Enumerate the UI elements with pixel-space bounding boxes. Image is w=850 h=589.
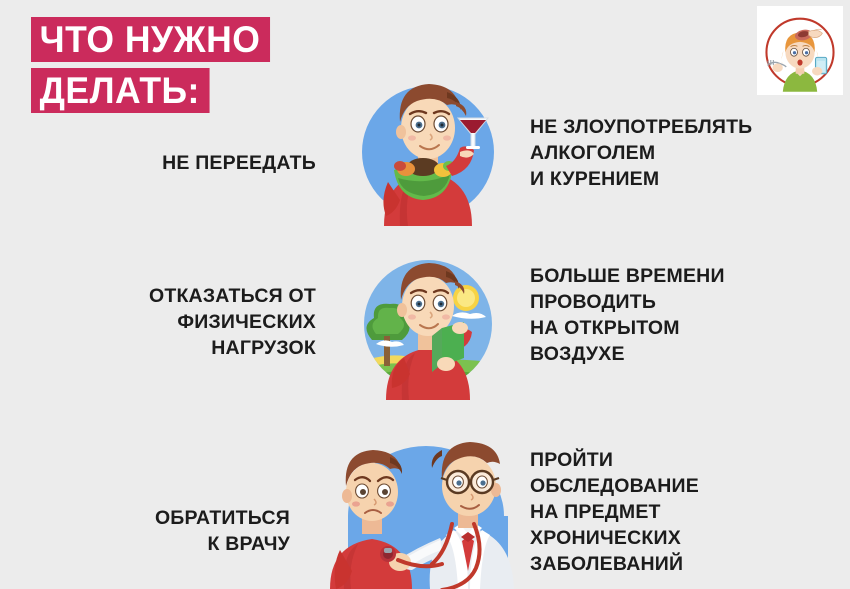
doctor-examining-patient-with-stethoscope-icon xyxy=(322,420,542,589)
caption-no-alcohol-smoking: НЕ ЗЛОУПОТРЕБЛЯТЬ АЛКОГОЛЕМ И КУРЕНИЕМ xyxy=(530,114,752,192)
brand-logo xyxy=(757,6,843,95)
caption-chronic-disease-checkup: ПРОЙТИ ОБСЛЕДОВАНИЕ НА ПРЕДМЕТ ХРОНИЧЕСК… xyxy=(530,447,699,577)
title-line-1: ЧТО НУЖНО xyxy=(31,17,270,62)
page-title: ЧТО НУЖНО ДЕЛАТЬ: xyxy=(31,17,280,113)
infographic-canvas: ЧТО НУЖНО ДЕЛАТЬ: xyxy=(0,0,850,589)
title-line-2: ДЕЛАТЬ: xyxy=(31,68,209,113)
man-outdoors-with-green-book-icon xyxy=(348,248,508,400)
title-line-1-row: ЧТО НУЖНО xyxy=(31,17,280,62)
man-with-food-bowl-and-wine-glass-icon xyxy=(348,66,508,226)
illustration-doctor-examining-patient xyxy=(322,420,542,589)
title-line-2-row: ДЕЛАТЬ: xyxy=(31,68,280,113)
caption-see-a-doctor: ОБРАТИТЬСЯ К ВРАЧУ xyxy=(155,505,290,557)
illustration-man-with-food-and-wine xyxy=(348,66,508,226)
illustration-man-outdoors xyxy=(348,248,508,400)
caption-more-time-outdoors: БОЛЬШЕ ВРЕМЕНИ ПРОВОДИТЬ НА ОТКРЫТОМ ВОЗ… xyxy=(530,263,725,367)
caption-do-not-overeat: НЕ ПЕРЕЕДАТЬ xyxy=(162,150,316,176)
caption-avoid-physical-strain: ОТКАЗАТЬСЯ ОТ ФИЗИЧЕСКИХ НАГРУЗОК xyxy=(149,283,316,361)
cartoon-woman-headache-icon xyxy=(757,6,843,95)
